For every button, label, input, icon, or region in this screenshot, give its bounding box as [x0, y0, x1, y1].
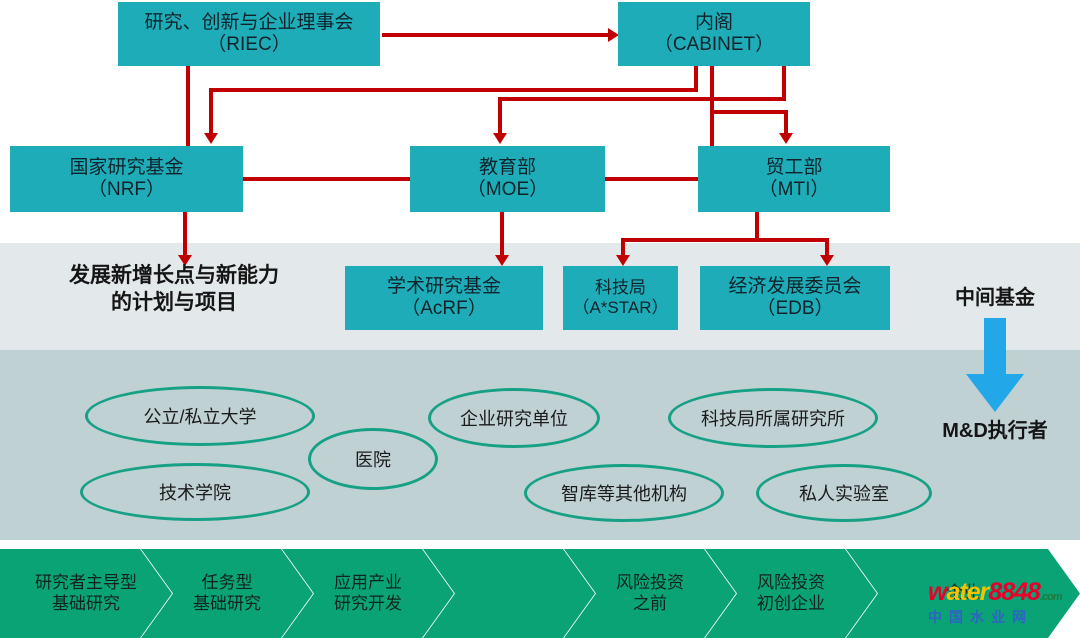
label-intermediary-funding: 中间基金 [920, 285, 1070, 311]
ellipse-label: 医院 [355, 446, 391, 472]
arrowhead-cabinet-to-mti [779, 133, 793, 144]
arrowhead-mti-to-astar [616, 255, 630, 266]
connector-cabinet-bus-upper-drop [209, 88, 213, 136]
stage-label-line1: 企业 [946, 583, 980, 603]
box-riec-line1: 研究、创新与企业理事会 [144, 12, 353, 34]
diagram-canvas: 研究、创新与企业理事会 （RIEC） 内阁 （CABINET） 国家研究基金 （… [0, 0, 1080, 638]
ellipse-label: 私人实验室 [799, 480, 889, 506]
stage-chevron-investigator-led-basic-research[interactable]: 研究者主导型 基础研究 [0, 549, 172, 638]
stage-label-line2: 基础研究 [193, 594, 261, 614]
box-riec[interactable]: 研究、创新与企业理事会 （RIEC） [118, 2, 380, 66]
connector-nrf-down [183, 212, 187, 260]
ellipse-think-tanks-and-others[interactable]: 智库等其他机构 [524, 464, 724, 522]
stage-label-line2: 基础研究 [52, 594, 120, 614]
stage-label-line1: 应用产业 [334, 573, 402, 593]
ellipse-label: 技术学院 [159, 479, 231, 505]
box-astar-line1: 科技局 [595, 278, 646, 298]
stage-label-line2: 之前 [633, 594, 667, 614]
stage-label-line1: 任务型 [202, 573, 253, 593]
box-nrf-line1: 国家研究基金 [69, 157, 183, 179]
connector-cabinet-down-stem [710, 65, 714, 150]
box-cabinet[interactable]: 内阁 （CABINET） [618, 2, 810, 66]
ellipse-corporate-research-units[interactable]: 企业研究单位 [428, 388, 600, 448]
box-edb-line1: 经济发展委员会 [728, 276, 861, 298]
connector-cabinet-bus-upper-horiz [209, 88, 698, 92]
box-mti-line1: 贸工部 [765, 157, 822, 179]
label-md-performers: M&D执行者 [912, 418, 1078, 444]
connector-cabinet-bus-lower-vert [782, 65, 786, 100]
box-mti[interactable]: 贸工部 （MTI） [698, 146, 890, 212]
box-edb[interactable]: 经济发展委员会 （EDB） [700, 266, 890, 330]
box-moe-line1: 教育部 [479, 157, 536, 179]
stage-chevron-enterprises[interactable]: 企业 [846, 549, 1080, 638]
connector-cabinet-bus-lower-drop [498, 97, 502, 136]
label-programs-line2: 的计划与项目 [24, 289, 324, 316]
ellipse-public-private-universities[interactable]: 公立/私立大学 [85, 386, 315, 446]
box-moe[interactable]: 教育部 （MOE） [410, 146, 605, 212]
box-cabinet-line1: 内阁 [695, 12, 733, 34]
connector-cabinet-bus-lower-horiz [498, 97, 786, 101]
connector-riec-to-cabinet [382, 33, 610, 37]
connector-cabinet-to-mti-elbow [710, 110, 788, 114]
ellipse-private-labs[interactable]: 私人实验室 [756, 464, 932, 522]
label-programs-line1: 发展新增长点与新能力 [24, 262, 324, 289]
connector-moe-down [500, 212, 504, 260]
stage-label-line2: 初创企业 [757, 594, 825, 614]
stage-label-line1: 研究者主导型 [35, 573, 137, 593]
box-mti-line2: （MTI） [759, 179, 830, 201]
arrowhead-moe-to-acrf [495, 255, 509, 266]
box-moe-line2: （MOE） [467, 179, 548, 201]
connector-moe-to-mti [603, 177, 701, 181]
box-acrf-line2: （AcRF） [401, 298, 487, 320]
arrowhead-mti-to-edb [820, 255, 834, 266]
connector-mti-split-bus [621, 238, 829, 242]
ellipse-label: 企业研究单位 [460, 405, 568, 431]
label-programs-and-projects: 发展新增长点与新能力 的计划与项目 [24, 262, 324, 317]
box-nrf[interactable]: 国家研究基金 （NRF） [10, 146, 243, 212]
blue-down-arrow-icon [962, 318, 1028, 414]
ellipse-label: 智库等其他机构 [561, 480, 687, 506]
research-stage-chevron-band: 研究者主导型 基础研究 任务型 基础研究 应用产业 研究开发 风险投资 之前 风… [0, 549, 1080, 638]
box-nrf-line2: （NRF） [88, 179, 165, 201]
stage-label-line1: 风险投资 [616, 573, 684, 593]
ellipse-label: 科技局所属研究所 [701, 405, 845, 431]
stage-label-line1: 风险投资 [757, 573, 825, 593]
connector-mti-down-stem [755, 212, 759, 240]
connector-riec-down-stem [186, 65, 190, 148]
box-cabinet-line2: （CABINET） [654, 34, 774, 56]
box-astar[interactable]: 科技局 （A*STAR） [563, 266, 678, 330]
connector-nrf-to-moe [241, 177, 413, 181]
arrowhead-cabinet-to-nrf [204, 133, 218, 144]
ellipse-label: 公立/私立大学 [143, 403, 256, 429]
arrowhead-cabinet-to-moe [493, 133, 507, 144]
box-riec-line2: （RIEC） [207, 34, 290, 56]
ellipse-hospitals[interactable]: 医院 [308, 428, 438, 490]
ellipse-astar-research-institutes[interactable]: 科技局所属研究所 [668, 388, 878, 448]
box-acrf[interactable]: 学术研究基金 （AcRF） [345, 266, 543, 330]
box-astar-line2: （A*STAR） [572, 298, 668, 318]
ellipse-technical-institutes[interactable]: 技术学院 [80, 463, 310, 521]
box-edb-line2: （EDB） [756, 298, 833, 320]
stage-label-line2: 研究开发 [334, 594, 402, 614]
box-acrf-line1: 学术研究基金 [387, 276, 501, 298]
